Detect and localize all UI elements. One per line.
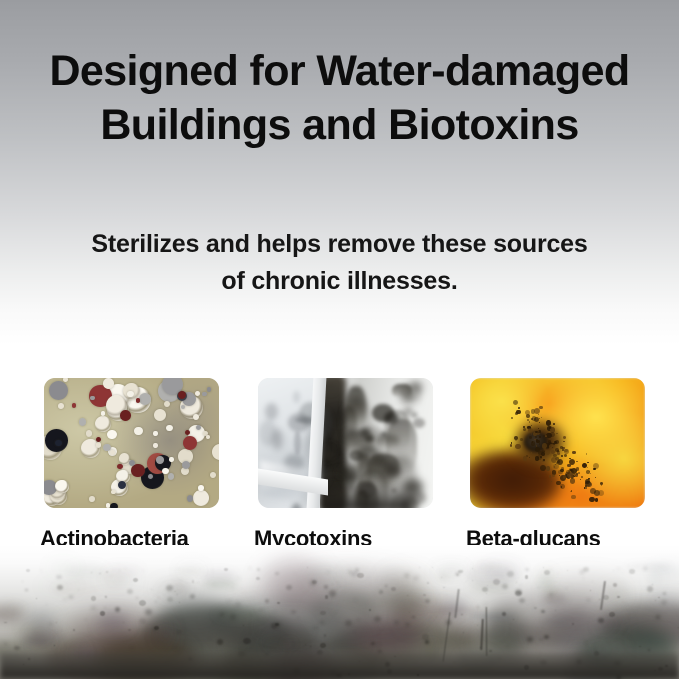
mold-streak	[326, 384, 336, 395]
grime-speck	[237, 577, 239, 579]
bacterial-colony	[96, 442, 102, 448]
card-mycotoxins: Mycotoxins	[258, 378, 433, 508]
grime-wisp	[12, 625, 44, 638]
grime-speck	[78, 589, 79, 590]
page-title: Designed for Water-damaged Buildings and…	[0, 44, 679, 152]
spore-speck	[540, 456, 542, 458]
spore-speck	[545, 450, 550, 455]
bacterial-colony	[182, 461, 190, 469]
spore-speck	[560, 446, 563, 449]
spore-speck	[553, 423, 555, 425]
grime-wisp	[172, 569, 205, 573]
mold-spot	[386, 464, 401, 477]
grime-speck	[230, 614, 236, 619]
grime-speck	[293, 643, 294, 644]
spore-speck	[541, 452, 545, 456]
petri-dish-bacterial-colonies-photo	[44, 378, 219, 508]
grime-speck	[3, 642, 8, 646]
bacterial-colony	[111, 490, 115, 494]
grime-speck	[104, 607, 106, 608]
grime-wisp	[4, 605, 28, 609]
spore-speck	[549, 427, 551, 429]
grime-speck	[599, 599, 600, 600]
spore-speck	[518, 407, 520, 409]
spore-speck	[523, 456, 527, 460]
grime-speck	[338, 586, 339, 587]
spore-speck	[572, 451, 575, 454]
grime-speck	[329, 590, 336, 596]
spore-speck	[535, 436, 537, 438]
bacterial-colony	[110, 450, 115, 455]
spore-speck	[556, 433, 557, 434]
spore-speck	[525, 410, 530, 415]
condensation-streak	[293, 391, 301, 402]
spore-speck	[516, 410, 520, 414]
grime-speck	[337, 582, 338, 583]
grime-speck	[26, 569, 29, 572]
bacterial-colony	[72, 403, 76, 407]
grime-speck	[598, 618, 603, 623]
spore-speck	[539, 436, 540, 437]
grime-speck	[261, 609, 262, 610]
grime-speck	[175, 646, 177, 648]
grime-speck	[286, 585, 292, 590]
grime-speck	[232, 588, 233, 589]
grime-speck	[422, 634, 429, 640]
mold-spot	[412, 413, 416, 417]
grime-speck	[224, 568, 228, 571]
grime-speck	[461, 614, 463, 615]
spore-speck	[586, 453, 587, 454]
bacterial-colony	[95, 416, 111, 432]
grime-speck	[472, 580, 473, 581]
grime-speck	[91, 606, 95, 610]
grime-speck	[394, 620, 399, 624]
spore-speck	[520, 438, 523, 441]
bacterial-colony	[207, 387, 212, 392]
spore-speck	[561, 455, 563, 457]
bacterial-colony	[169, 457, 174, 462]
spore-speck	[540, 465, 546, 471]
grime-speck	[192, 580, 194, 582]
spore-speck	[515, 440, 516, 441]
grime-speck	[404, 573, 410, 578]
grime-speck	[425, 640, 429, 643]
bacterial-colony	[164, 401, 170, 407]
bacterial-colony	[55, 440, 61, 446]
bacterial-colony	[106, 503, 111, 508]
grime-wisp	[543, 594, 568, 603]
mold-streak	[346, 386, 366, 431]
condensation-streak	[294, 431, 301, 456]
spore-speck	[549, 475, 552, 478]
spore-speck	[554, 441, 557, 444]
grime-speck	[613, 583, 618, 587]
grime-speck	[525, 575, 529, 578]
grime-speck	[110, 575, 111, 576]
grime-speck	[14, 646, 19, 651]
grime-speck	[407, 595, 408, 596]
bacterial-colony	[117, 464, 123, 470]
grime-speck	[73, 629, 75, 631]
condensation-streak	[259, 420, 277, 446]
spore-speck	[553, 464, 559, 470]
grime-wisp	[453, 618, 475, 638]
grime-speck	[507, 571, 514, 577]
spore-speck	[552, 474, 554, 476]
grime-speck	[443, 587, 444, 588]
grime-speck	[305, 644, 306, 645]
grime-speck	[40, 570, 41, 571]
grime-speck	[427, 582, 429, 584]
spore-speck	[560, 484, 565, 489]
grime-speck	[615, 613, 616, 614]
bacterial-colony	[49, 381, 68, 400]
grime-speck	[320, 643, 326, 648]
spore-speck	[598, 490, 604, 496]
grime-speck	[114, 569, 115, 570]
spore-speck	[541, 417, 542, 418]
grime-wisp	[650, 571, 659, 587]
grime-speck	[371, 642, 375, 645]
spore-speck	[595, 498, 598, 501]
grime-speck	[128, 629, 130, 631]
grime-speck	[265, 599, 270, 603]
grime-speck	[379, 590, 383, 594]
grime-speck	[544, 635, 549, 639]
grime-speck	[357, 573, 363, 578]
grime-speck	[139, 618, 146, 624]
grime-wisp	[234, 591, 264, 600]
grime-speck	[502, 584, 508, 589]
mold-spot	[413, 418, 425, 428]
grime-speck	[190, 594, 195, 598]
spore-speck	[536, 440, 539, 443]
grime-speck	[291, 610, 296, 614]
spore-speck	[529, 436, 532, 439]
grime-wisp	[96, 624, 132, 630]
spore-speck	[543, 459, 545, 461]
grime-speck	[647, 586, 653, 591]
condensation-streak	[265, 403, 278, 420]
mold-spot	[338, 468, 346, 475]
grime-speck	[297, 617, 299, 618]
bacterial-colony	[156, 456, 163, 463]
bacterial-colony	[210, 472, 216, 478]
grime-speck	[136, 597, 138, 599]
grime-speck	[629, 569, 634, 574]
grime-speck	[644, 567, 647, 569]
grime-speck	[489, 650, 492, 652]
grime-speck	[658, 597, 660, 598]
bacterial-colony	[198, 485, 204, 491]
feature-cards: Actinobacteria Mycotoxins Bet	[0, 378, 679, 568]
spore-speck	[553, 454, 557, 458]
grime-speck	[534, 607, 537, 609]
bacterial-colony	[193, 490, 209, 506]
grime-speck	[655, 600, 656, 601]
grime-speck	[567, 570, 568, 571]
grime-speck	[257, 568, 260, 571]
grime-dark-band	[0, 653, 679, 679]
grime-speck	[49, 623, 52, 625]
bacterial-colony	[101, 411, 105, 415]
spore-speck	[564, 449, 569, 454]
spore-speck	[585, 487, 587, 489]
spore-speck	[515, 444, 520, 449]
bacterial-colony	[127, 391, 133, 397]
grime-speck	[572, 623, 574, 625]
grime-speck	[220, 613, 224, 616]
subtitle: Sterilizes and helps remove these source…	[0, 226, 679, 300]
bacterial-colony	[89, 496, 94, 501]
grime-speck	[212, 570, 213, 571]
grime-speck	[214, 584, 215, 585]
mold-spot	[349, 450, 363, 462]
beta-glucan-spores-macro-photo	[470, 378, 645, 508]
grime-speck	[100, 611, 105, 615]
bacterial-colony	[153, 443, 158, 448]
grime-speck	[56, 575, 61, 580]
grime-speck	[127, 589, 133, 594]
grime-speck	[153, 628, 156, 631]
grime-speck	[502, 612, 507, 616]
spore-speck	[532, 416, 536, 420]
bacterial-colony	[131, 464, 144, 477]
spore-speck	[578, 472, 580, 474]
grime-wisp	[49, 563, 78, 572]
grime-wisp	[537, 575, 553, 591]
mold-spot	[402, 392, 415, 403]
spore-speck	[576, 461, 577, 462]
bacterial-colony	[107, 430, 117, 440]
grime-speck	[166, 585, 173, 591]
grime-speck	[385, 585, 387, 586]
spore-speck	[510, 444, 512, 446]
bacterial-colony	[55, 480, 69, 494]
grime-speck	[525, 568, 529, 571]
moldy-water-damaged-wall-texture	[0, 545, 679, 679]
grime-speck	[477, 606, 479, 608]
grime-speck	[176, 630, 181, 634]
grime-speck	[409, 612, 410, 613]
mold-spot	[384, 412, 398, 424]
bacterial-colony	[185, 430, 190, 435]
grime-speck	[566, 588, 567, 589]
mold-spot	[381, 432, 387, 437]
bacterial-colony	[103, 444, 110, 451]
spore-speck	[550, 432, 555, 437]
card-actinobacteria: Actinobacteria	[44, 378, 219, 508]
grime-speck	[592, 581, 593, 582]
spore-speck	[531, 452, 532, 453]
bacterial-colony	[136, 398, 140, 402]
grime-speck	[324, 585, 328, 589]
grime-wisp	[542, 620, 569, 624]
mold-spot	[404, 408, 412, 415]
grime-speck	[314, 627, 316, 629]
grime-speck	[406, 623, 410, 626]
grime-wisp	[160, 629, 173, 642]
grime-speck	[425, 599, 430, 603]
bacterial-colony	[58, 403, 64, 409]
grime-speck	[275, 572, 279, 576]
spore-speck	[551, 450, 555, 454]
black-mold-window-wall-photo	[258, 378, 433, 508]
bacterial-colony	[187, 495, 193, 501]
grime-speck	[378, 644, 379, 645]
bacterial-colony	[162, 468, 168, 474]
bacterial-colony	[110, 503, 118, 508]
grime-wisp	[468, 613, 514, 619]
spore-speck	[571, 495, 576, 500]
grime-speck	[310, 580, 317, 586]
bacterial-colony	[96, 437, 101, 442]
grime-speck	[656, 615, 660, 619]
spore-speck	[576, 467, 580, 471]
spore-speck	[557, 452, 560, 455]
bacterial-colony	[166, 425, 172, 431]
grime-speck	[227, 600, 229, 602]
grime-speck	[243, 638, 250, 644]
grime-wisp	[436, 566, 467, 573]
spore-speck	[580, 479, 581, 480]
spore-speck	[528, 428, 531, 431]
grime-speck	[652, 584, 653, 585]
mold-base-shadow	[320, 482, 412, 508]
spore-speck	[544, 429, 545, 430]
grime-speck	[487, 585, 488, 586]
grime-wisp	[99, 573, 124, 587]
grime-speck	[519, 598, 525, 603]
bacterial-colony	[202, 392, 207, 397]
spore-speck	[558, 451, 559, 452]
grime-speck	[235, 602, 241, 607]
spore-speck	[593, 468, 595, 470]
bacterial-colony	[86, 430, 93, 437]
bacterial-colony	[134, 427, 142, 435]
grime-speck	[325, 595, 329, 598]
bacterial-colony	[168, 473, 174, 479]
bacterial-colony	[153, 431, 157, 435]
grime-speck	[106, 571, 108, 573]
mold-spot	[365, 435, 374, 442]
card-beta-glucans: Beta-glucans	[470, 378, 645, 508]
spore-speck	[534, 408, 540, 414]
grime-speck	[617, 568, 620, 570]
spore-speck	[513, 400, 518, 405]
poster: Designed for Water-damaged Buildings and…	[0, 0, 679, 679]
grime-speck	[441, 577, 442, 578]
spore-speck	[567, 464, 570, 467]
spore-speck	[589, 497, 595, 503]
grime-speck	[64, 599, 65, 600]
spore-speck	[546, 420, 551, 425]
grime-speck	[550, 569, 552, 570]
grime-speck	[145, 609, 151, 614]
